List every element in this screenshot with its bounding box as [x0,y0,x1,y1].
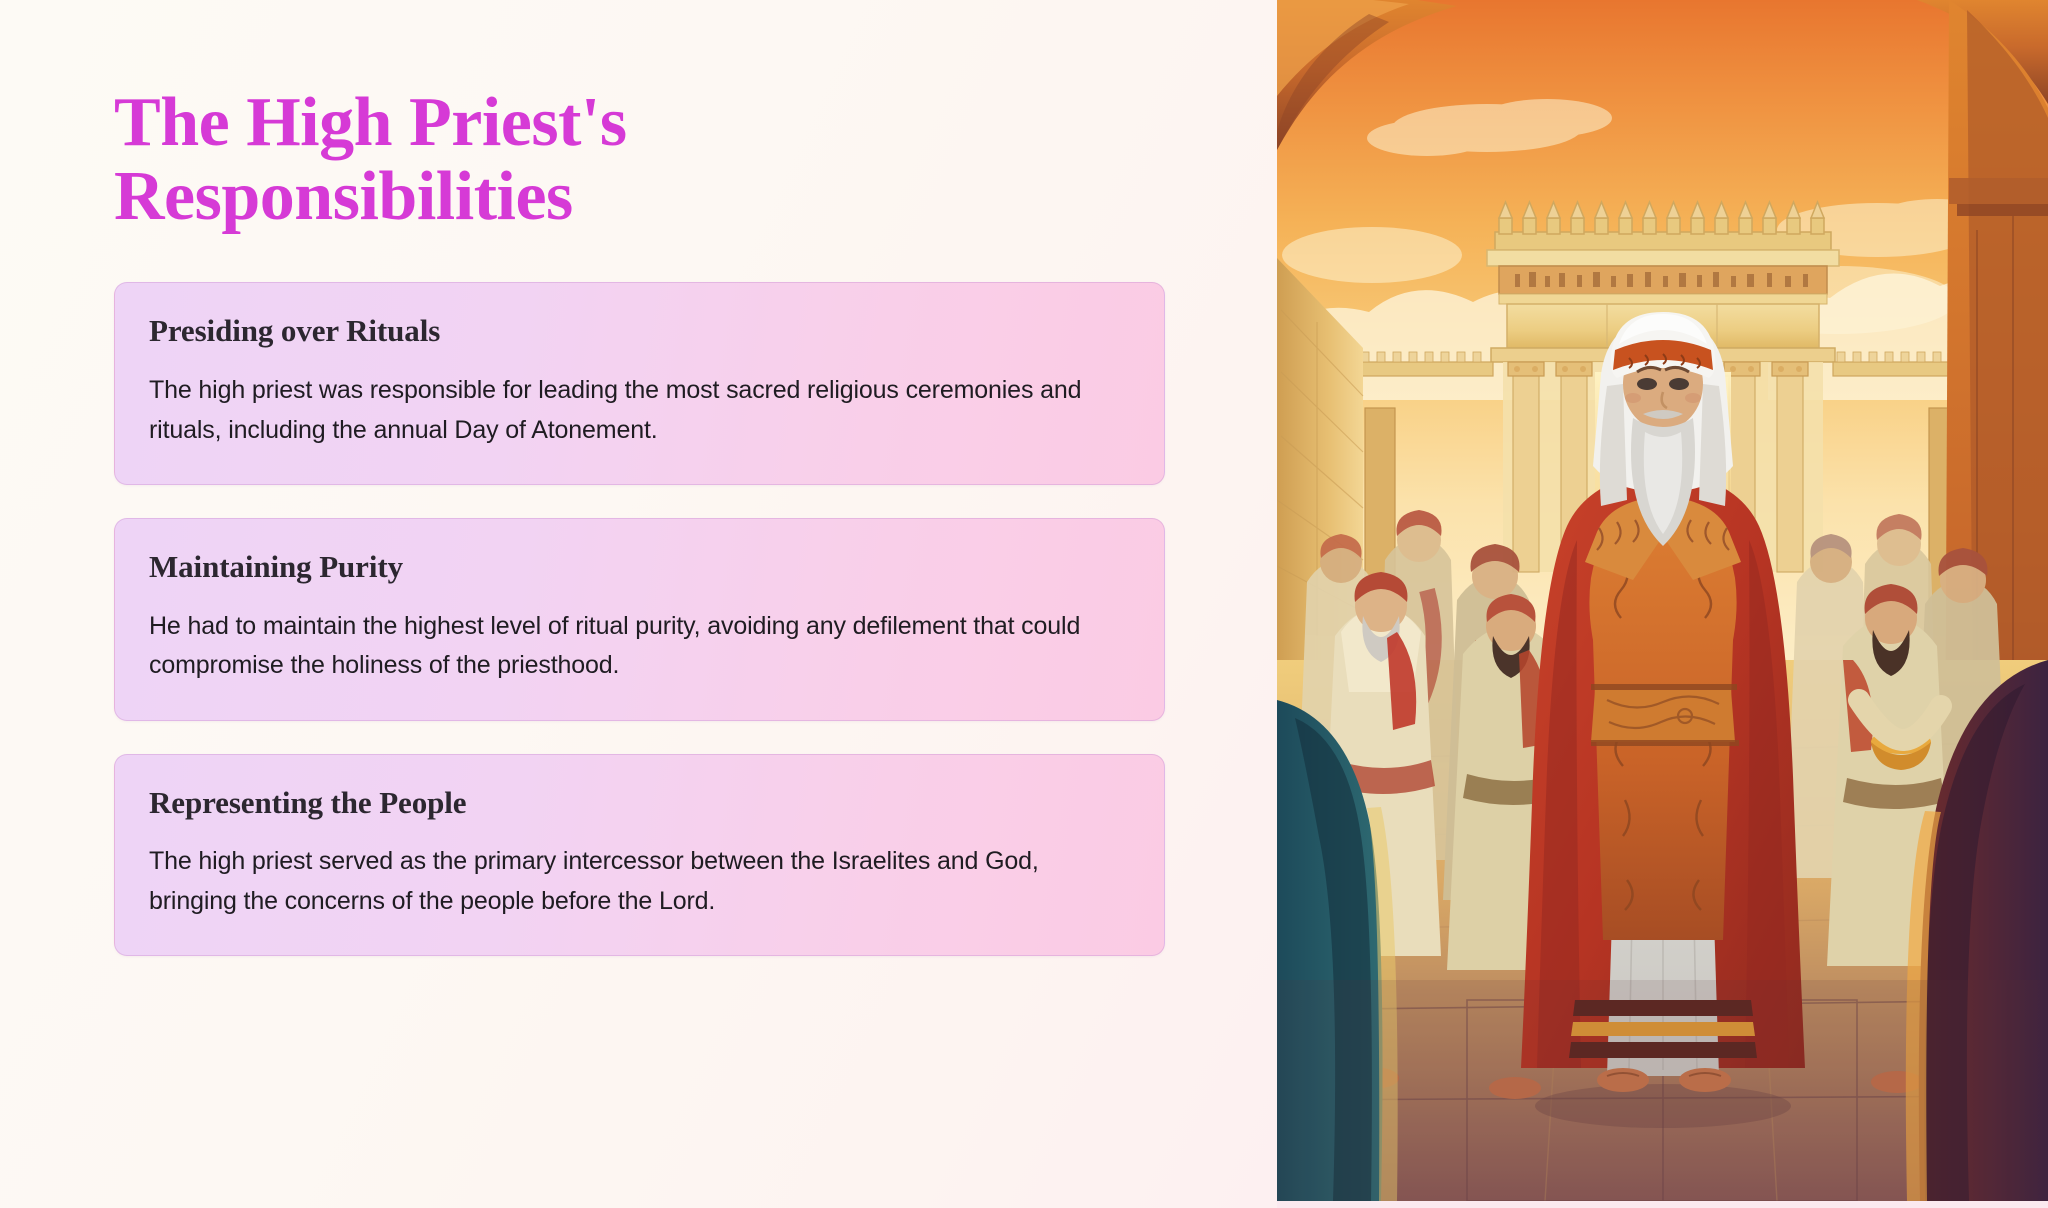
card-body-text: The high priest was responsible for lead… [149,371,1130,450]
illustration-footer-strip [1277,1201,2048,1208]
responsibility-card: Representing the People The high priest … [114,754,1165,957]
responsibility-card-list: Presiding over Rituals The high priest w… [114,282,1165,956]
content-pane: The High Priest's Responsibilities Presi… [0,0,1277,1208]
responsibility-card: Presiding over Rituals The high priest w… [114,282,1165,485]
priest-sash [1591,690,1735,742]
illustration-artwork [1277,0,2048,1201]
responsibility-card: Maintaining Purity He had to maintain th… [114,518,1165,721]
card-body-text: He had to maintain the highest level of … [149,607,1130,686]
card-title: Maintaining Purity [149,549,1130,585]
card-title: Representing the People [149,785,1130,821]
card-body-text: The high priest served as the primary in… [149,842,1130,921]
card-title: Presiding over Rituals [149,313,1130,349]
page-title: The High Priest's Responsibilities [114,86,754,234]
high-priest-illustration [1277,0,2048,1201]
